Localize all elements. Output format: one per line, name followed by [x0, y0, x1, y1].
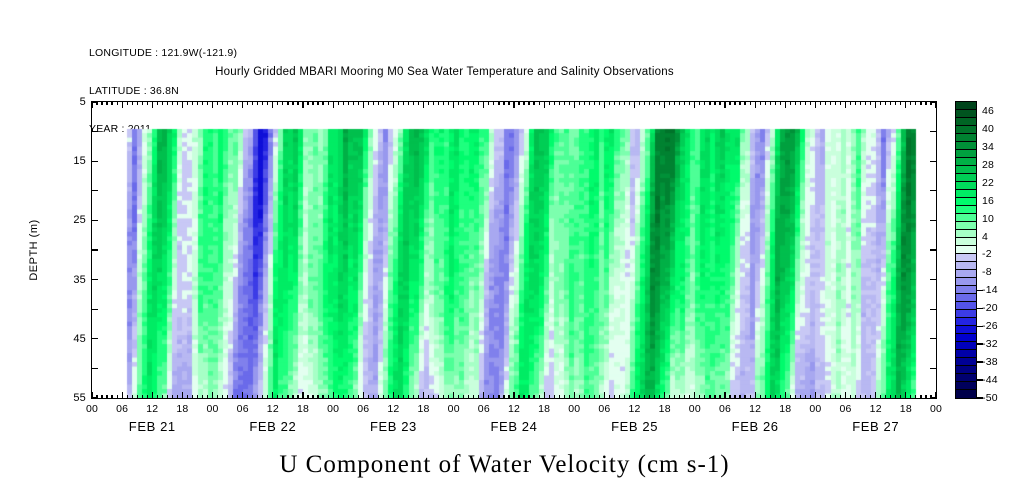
- y-axis-tick: [930, 249, 937, 250]
- colorbar-tick-label: -32: [982, 338, 998, 350]
- colorbar-tick-label: -14: [982, 284, 998, 296]
- y-axis-tick: [91, 279, 98, 280]
- y-axis-tick: [930, 397, 937, 398]
- colorbar-tick: [977, 308, 983, 309]
- colorbar-tick-label: -26: [982, 320, 998, 332]
- y-axis-tick: [930, 190, 937, 191]
- y-axis-tick: [930, 131, 937, 132]
- plot-caption: U Component of Water Velocity (cm s-1): [0, 451, 1009, 479]
- colorbar-tick: [977, 326, 983, 327]
- colorbar-tick-label: -38: [982, 356, 998, 368]
- colorbar-labels: 464034282216104-2-8-14-20-26-32-38-44-50: [0, 0, 1009, 504]
- colorbar-tick-label: 28: [982, 159, 994, 171]
- colorbar-tick: [977, 379, 983, 380]
- colorbar-tick-label: -44: [982, 374, 998, 386]
- y-axis-tick: [91, 249, 98, 250]
- colorbar-tick-label: 22: [982, 177, 994, 189]
- colorbar-tick: [977, 397, 983, 398]
- colorbar-tick-label: 46: [982, 105, 994, 117]
- colorbar-tick-label: 34: [982, 141, 994, 153]
- colorbar-tick-label: -8: [982, 266, 992, 278]
- y-axis-tick: [91, 161, 98, 162]
- y-axis-tick: [930, 279, 937, 280]
- y-axis-tick: [91, 101, 98, 102]
- y-axis-tick: [930, 309, 937, 310]
- y-axis-tick: [91, 309, 98, 310]
- y-axis-tick: [91, 338, 98, 339]
- colorbar-tick: [977, 290, 983, 291]
- y-axis-tick: [91, 368, 98, 369]
- colorbar-tick-label: -50: [982, 392, 998, 404]
- colorbar-tick: [977, 361, 983, 362]
- colorbar-tick-label: -2: [982, 248, 992, 260]
- y-axis-tick: [930, 101, 937, 102]
- colorbar-tick-label: 10: [982, 213, 994, 225]
- colorbar-tick-label: 40: [982, 123, 994, 135]
- y-axis-tick: [91, 131, 98, 132]
- y-axis-tick: [930, 368, 937, 369]
- y-axis-tick: [930, 338, 937, 339]
- colorbar-tick-label: 4: [982, 231, 988, 243]
- colorbar-tick-label: 16: [982, 195, 994, 207]
- y-axis-tick: [91, 397, 98, 398]
- colorbar-tick-label: -20: [982, 302, 998, 314]
- y-axis-tick: [91, 220, 98, 221]
- y-axis-tick: [91, 190, 98, 191]
- y-axis-tick: [930, 220, 937, 221]
- y-axis-tick: [930, 161, 937, 162]
- colorbar-tick: [977, 343, 983, 344]
